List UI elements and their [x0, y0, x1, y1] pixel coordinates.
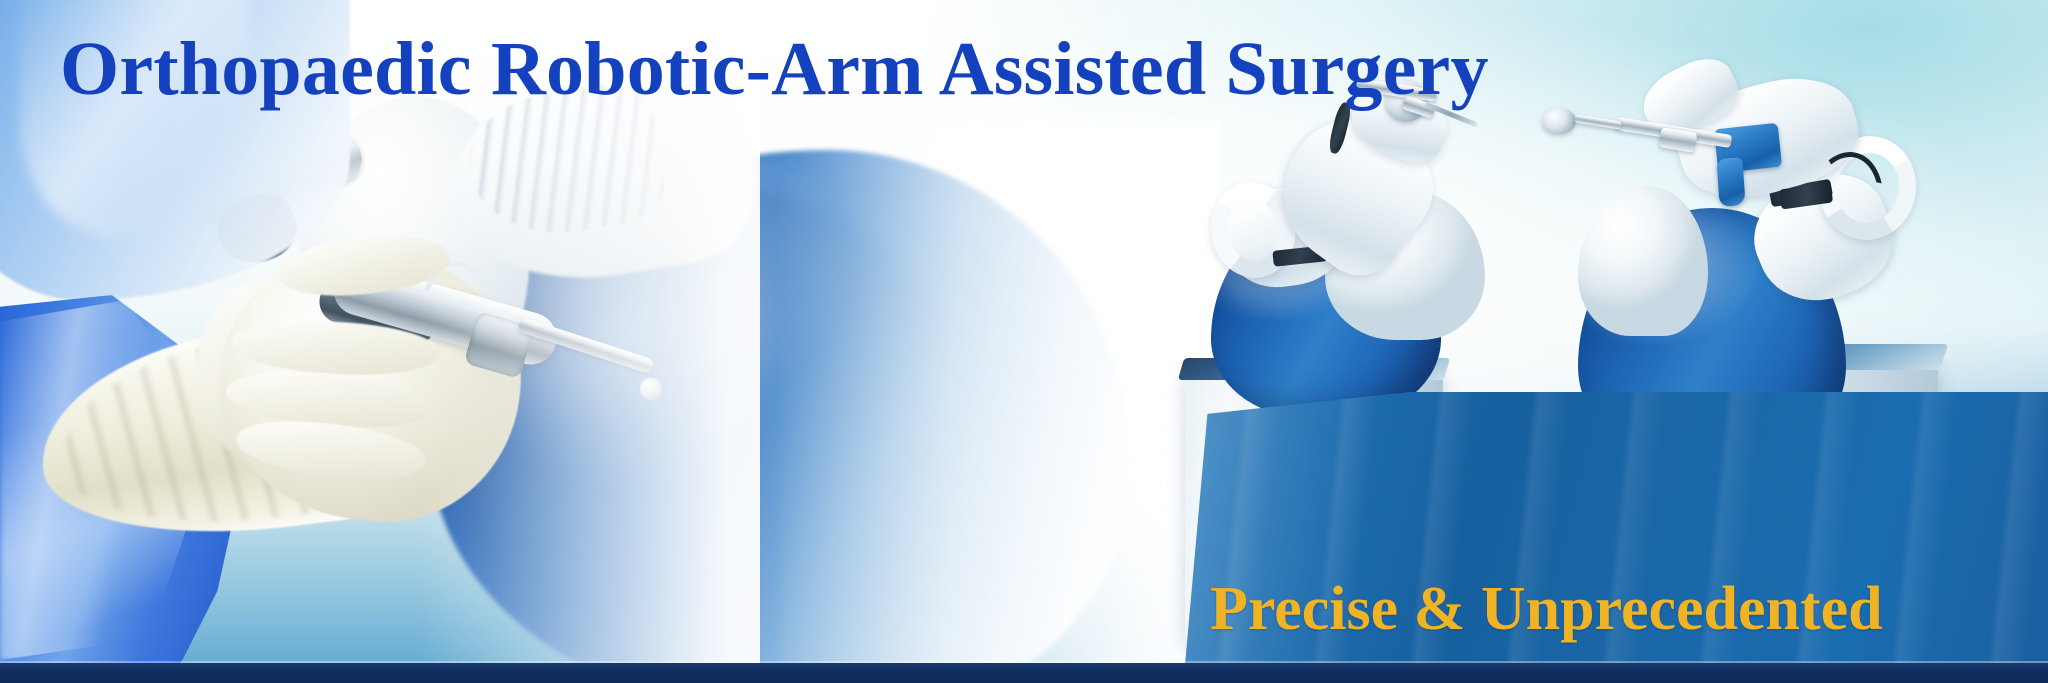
gloved-finger-ring [224, 365, 434, 435]
blue-knee-model-fade [780, 120, 1220, 683]
burr-tip [640, 378, 662, 400]
burr-handpiece-collar [464, 311, 535, 379]
white-base-shell-b [1578, 186, 1708, 336]
burr-shaft [517, 317, 655, 375]
secondary-arm-joint [209, 185, 305, 274]
bottom-navy-bar [0, 663, 2048, 683]
gloved-forearm-creases [50, 318, 449, 543]
gloved-finger-little [234, 413, 429, 488]
page-title: Orthopaedic Robotic-Arm Assisted Surgery [60, 31, 1489, 107]
burr-handpiece-body [327, 257, 562, 370]
banner-root: Orthopaedic Robotic-Arm Assisted Surgery… [0, 0, 2048, 683]
burr-handpiece-hook [422, 252, 493, 319]
tagline-text: Precise & Unprecedented [1210, 578, 1883, 640]
burr-handpiece-grip [314, 274, 441, 349]
gloved-hand [207, 235, 534, 535]
gloved-thumb [196, 280, 316, 460]
bottom-bar-highlight [0, 661, 2048, 663]
robotic-arm-shoulder [300, 96, 530, 426]
blue-handpiece-trigger-b [1716, 157, 1745, 207]
gloved-forearm [29, 305, 480, 556]
saw-blade-b [1542, 108, 1576, 134]
secondary-arm-segment [193, 128, 369, 236]
gloved-finger-index [276, 229, 453, 303]
blue-surgical-drape-folds [0, 300, 250, 660]
blue-surgical-drape [0, 295, 290, 683]
saw-blade-neck-b [1574, 114, 1623, 129]
gloved-finger-middle [231, 317, 441, 380]
saw-collar-b [1659, 127, 1698, 152]
